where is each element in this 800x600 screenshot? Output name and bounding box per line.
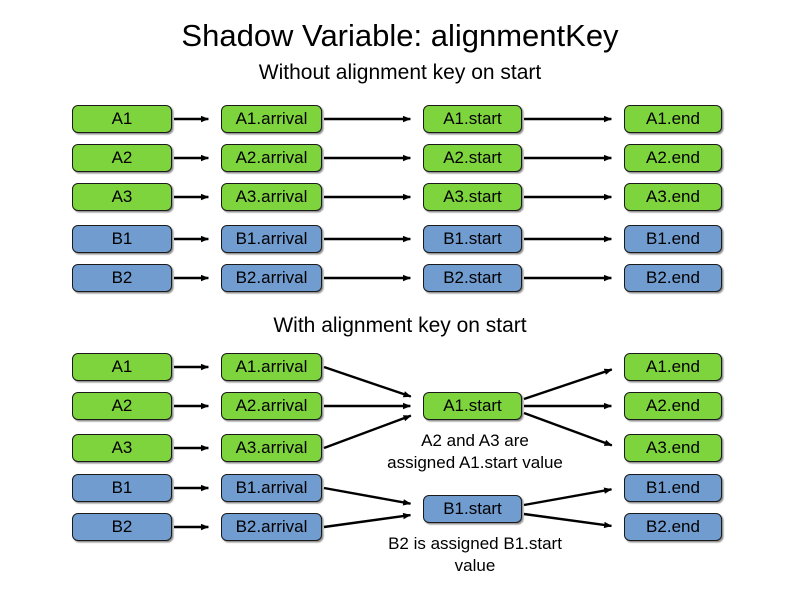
node-label: A1 xyxy=(112,357,133,376)
node-label: A3.arrival xyxy=(236,438,308,457)
caption-line: assigned A1.start value xyxy=(355,452,595,474)
node-label: A2 xyxy=(112,396,133,415)
node-label: B1 xyxy=(112,478,133,497)
caption-line: A2 and A3 are xyxy=(355,430,595,452)
node-label: B1.arrival xyxy=(236,478,308,497)
node-label: B2.start xyxy=(443,268,502,287)
flow-arrow xyxy=(324,515,410,527)
node-label: A2 xyxy=(112,148,133,167)
node-label: A2.end xyxy=(646,396,700,415)
node-t-a2[interactable]: A2 xyxy=(72,144,172,172)
caption-line: B2 is assigned B1.start xyxy=(355,533,595,555)
node-t-a2-start[interactable]: A2.start xyxy=(423,144,522,172)
node-b-a1-end[interactable]: A1.end xyxy=(624,353,722,381)
flow-arrow xyxy=(524,489,612,505)
node-t-a2-arrival[interactable]: A2.arrival xyxy=(221,144,322,172)
node-label: A1.arrival xyxy=(236,357,308,376)
node-label: B1 xyxy=(112,229,133,248)
node-b-a3-arrival[interactable]: A3.arrival xyxy=(221,434,322,462)
node-b-b2-arrival[interactable]: B2.arrival xyxy=(221,513,322,541)
node-b-a3[interactable]: A3 xyxy=(72,434,172,462)
node-b-a1[interactable]: A1 xyxy=(72,353,172,381)
node-t-b2-start[interactable]: B2.start xyxy=(423,264,522,292)
flow-arrow xyxy=(524,514,611,526)
node-label: A3.arrival xyxy=(236,187,308,206)
node-b-a2[interactable]: A2 xyxy=(72,392,172,420)
node-label: B1.arrival xyxy=(236,229,308,248)
node-label: A2.end xyxy=(646,148,700,167)
node-label: A3.end xyxy=(646,187,700,206)
node-b-a3-end[interactable]: A3.end xyxy=(624,434,722,462)
node-label: B1.start xyxy=(443,229,502,248)
node-b-a1-arrival[interactable]: A1.arrival xyxy=(221,353,322,381)
node-label: A2.arrival xyxy=(236,148,308,167)
node-b-b2-end[interactable]: B2.end xyxy=(624,513,722,541)
node-b-b1[interactable]: B1 xyxy=(72,474,172,502)
node-label: B2 xyxy=(112,517,133,536)
node-t-b2[interactable]: B2 xyxy=(72,264,172,292)
node-label: A1 xyxy=(112,109,133,128)
node-t-b1-start[interactable]: B1.start xyxy=(423,225,522,253)
arrow-layer xyxy=(0,0,800,600)
node-label: B1.end xyxy=(646,478,700,497)
node-t-a3-start[interactable]: A3.start xyxy=(423,183,522,211)
node-t-a1-end[interactable]: A1.end xyxy=(624,105,722,133)
node-label: A3 xyxy=(112,438,133,457)
node-b-a1-start[interactable]: A1.start xyxy=(423,392,522,420)
node-label: A1.start xyxy=(443,396,502,415)
node-label: B2.end xyxy=(646,517,700,536)
node-label: A2.start xyxy=(443,148,502,167)
node-b-b1-start[interactable]: B1.start xyxy=(423,495,522,523)
node-t-a2-end[interactable]: A2.end xyxy=(624,144,722,172)
node-label: A1.end xyxy=(646,109,700,128)
node-label: B2.arrival xyxy=(236,268,308,287)
node-label: A3.start xyxy=(443,187,502,206)
diagram-canvas: Shadow Variable: alignmentKey Without al… xyxy=(0,0,800,600)
node-t-b1-end[interactable]: B1.end xyxy=(624,225,722,253)
caption-a: A2 and A3 areassigned A1.start value xyxy=(355,430,595,474)
node-b-b1-arrival[interactable]: B1.arrival xyxy=(221,474,322,502)
flow-arrow xyxy=(324,367,411,397)
node-b-b2[interactable]: B2 xyxy=(72,513,172,541)
node-t-b2-arrival[interactable]: B2.arrival xyxy=(221,264,322,292)
node-label: B1.start xyxy=(443,499,502,518)
flow-arrow xyxy=(324,488,411,504)
node-b-a2-arrival[interactable]: A2.arrival xyxy=(221,392,322,420)
section-heading-without: Without alignment key on start xyxy=(0,60,800,85)
node-label: A1.end xyxy=(646,357,700,376)
caption-line: value xyxy=(355,555,595,577)
node-t-a3-end[interactable]: A3.end xyxy=(624,183,722,211)
node-label: A3 xyxy=(112,187,133,206)
node-t-b1[interactable]: B1 xyxy=(72,225,172,253)
caption-b: B2 is assigned B1.startvalue xyxy=(355,533,595,577)
node-label: B1.end xyxy=(646,229,700,248)
node-label: A3.end xyxy=(646,438,700,457)
section-heading-with: With alignment key on start xyxy=(0,313,800,338)
node-t-a3-arrival[interactable]: A3.arrival xyxy=(221,183,322,211)
node-label: A1.start xyxy=(443,109,502,128)
node-t-a1[interactable]: A1 xyxy=(72,105,172,133)
node-t-a1-start[interactable]: A1.start xyxy=(423,105,522,133)
node-t-a1-arrival[interactable]: A1.arrival xyxy=(221,105,322,133)
node-b-b1-end[interactable]: B1.end xyxy=(624,474,722,502)
node-t-a3[interactable]: A3 xyxy=(72,183,172,211)
node-label: B2.end xyxy=(646,268,700,287)
flow-arrow xyxy=(524,369,612,399)
node-t-b2-end[interactable]: B2.end xyxy=(624,264,722,292)
node-label: A2.arrival xyxy=(236,396,308,415)
page-title: Shadow Variable: alignmentKey xyxy=(0,18,800,54)
node-b-a2-end[interactable]: A2.end xyxy=(624,392,722,420)
node-label: B2 xyxy=(112,268,133,287)
node-t-b1-arrival[interactable]: B1.arrival xyxy=(221,225,322,253)
node-label: B2.arrival xyxy=(236,517,308,536)
node-label: A1.arrival xyxy=(236,109,308,128)
